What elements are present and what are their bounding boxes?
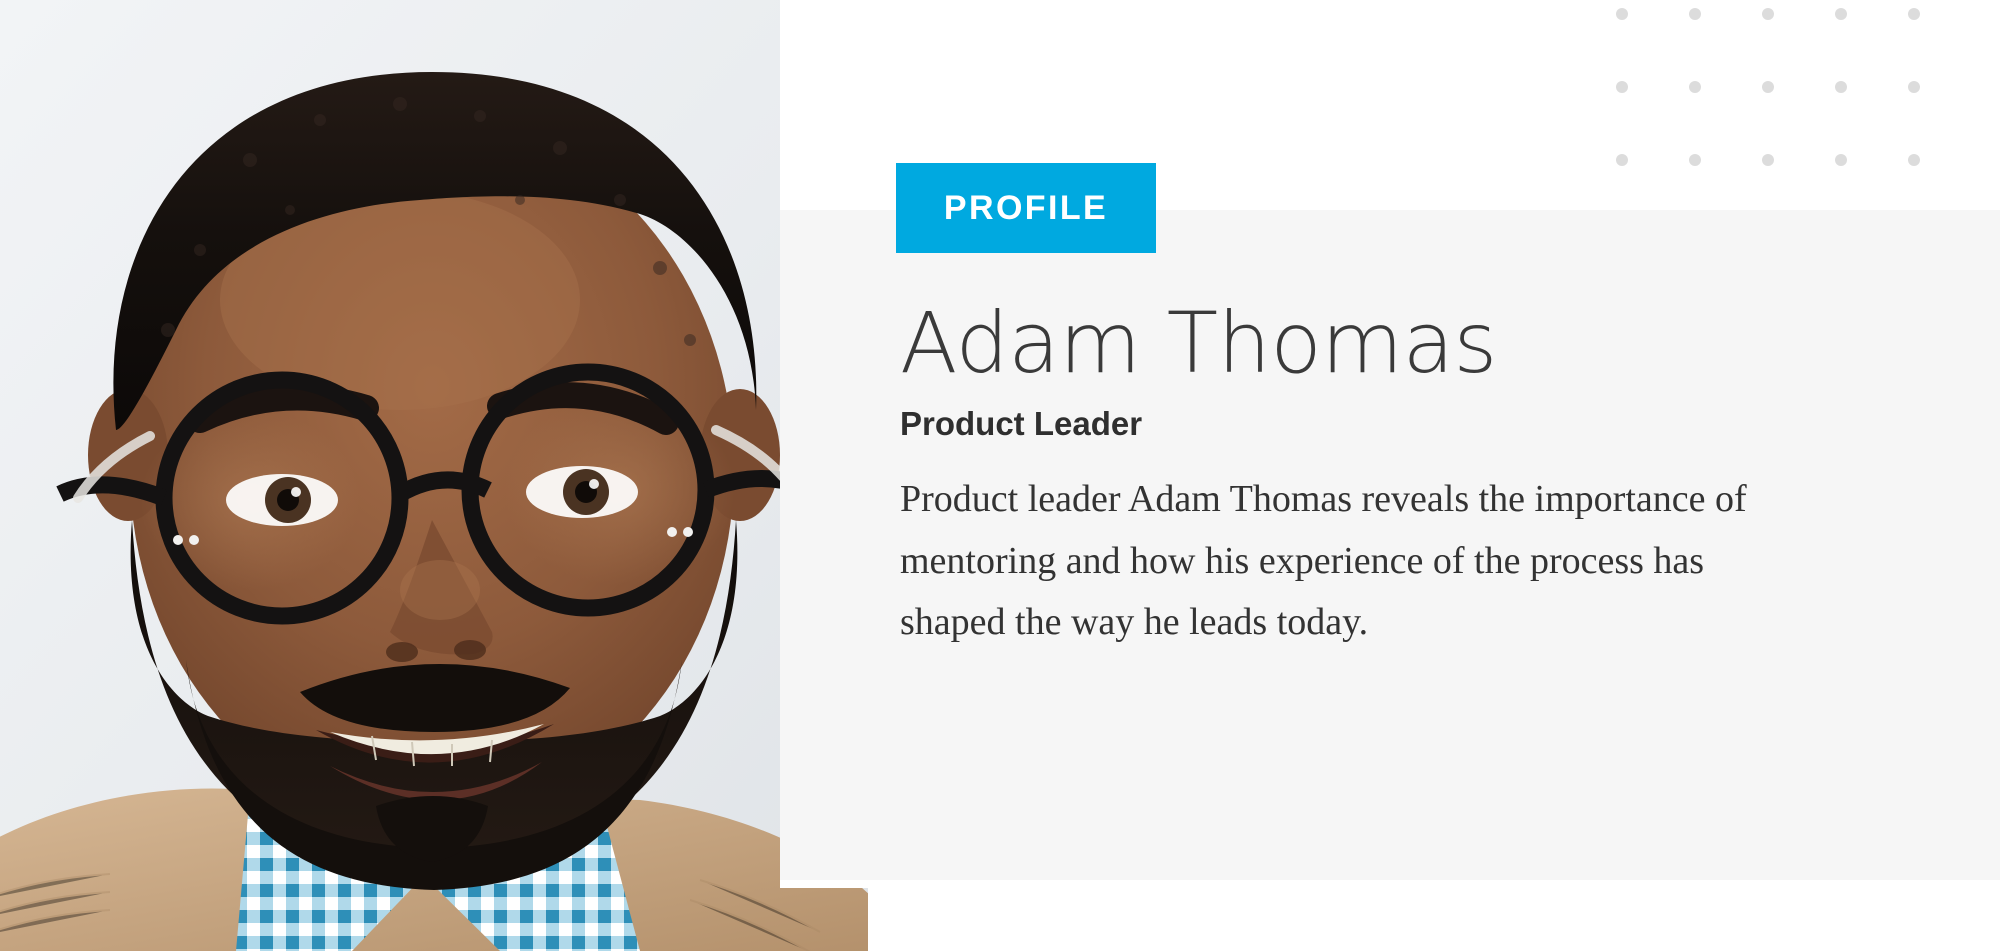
profile-badge: PROFILE xyxy=(896,163,1156,253)
profile-photo xyxy=(0,0,868,951)
profile-card: PROFILE Adam Thomas Product Leader Produ… xyxy=(0,0,2000,951)
person-role: Product Leader xyxy=(900,405,1820,443)
person-name: Adam Thomas xyxy=(900,300,1820,387)
profile-badge-label: PROFILE xyxy=(944,189,1108,228)
profile-text-block: Adam Thomas Product Leader Product leade… xyxy=(900,300,1820,654)
person-bio: Product leader Adam Thomas reveals the i… xyxy=(900,469,1780,654)
